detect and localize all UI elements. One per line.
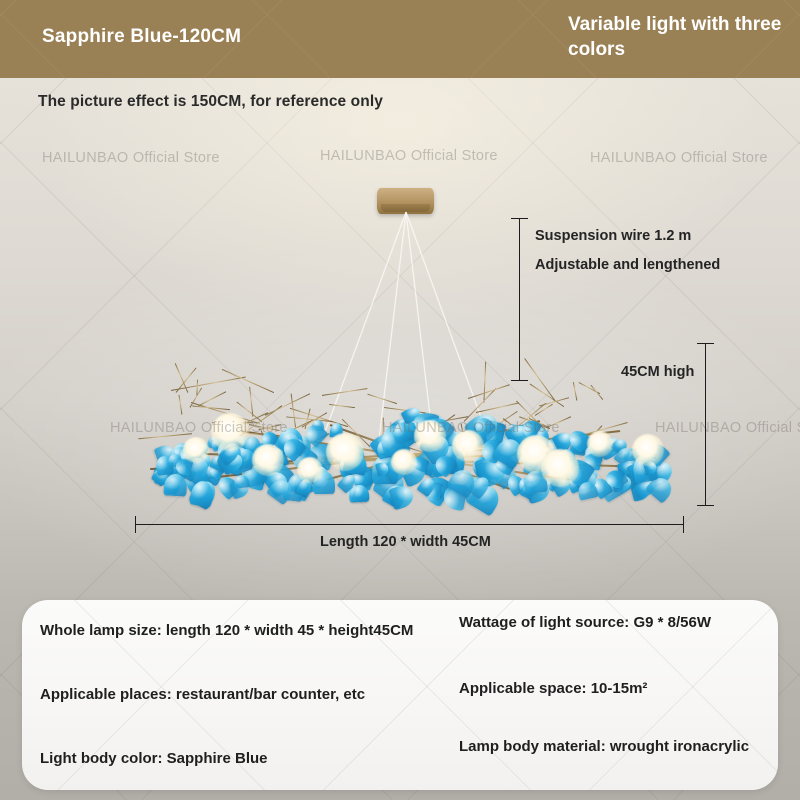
height-dimension-cap-bot: [697, 505, 714, 506]
spec-item-4: Light body color: Sapphire Blue: [40, 750, 268, 767]
suspension-dimension-cap-bot: [511, 380, 528, 381]
light-bulb-1: [252, 444, 284, 476]
length-label: Length 120 * width 45CM: [320, 534, 491, 550]
acrylic-leaf-209: [163, 474, 187, 497]
light-bulb-3: [391, 449, 417, 475]
acrylic-leaf-167: [353, 485, 368, 502]
branch-twig-51: [591, 385, 604, 400]
light-bulb-11: [541, 449, 579, 487]
branch-twig-25: [179, 395, 183, 415]
spec-item-0: Whole lamp size: length 120 * width 45 *…: [40, 622, 413, 639]
length-dimension-cap-right: [683, 516, 684, 533]
light-bulb-0: [183, 437, 209, 463]
light-bulb-7: [632, 434, 664, 466]
suspension-dimension-line: [519, 218, 520, 381]
light-bulb-9: [297, 457, 323, 483]
header-bar: Sapphire Blue-120CM Variable light with …: [0, 0, 800, 78]
branch-twig-31: [138, 433, 192, 439]
specification-panel: Whole lamp size: length 120 * width 45 *…: [22, 600, 778, 790]
light-bulb-2: [326, 433, 364, 471]
suspension-wire-label-line1: Suspension wire 1.2 m: [535, 228, 691, 244]
branch-twig-45: [222, 368, 275, 393]
light-bulb-10: [414, 420, 446, 452]
height-dimension-line: [705, 343, 706, 506]
light-bulb-8: [211, 413, 249, 451]
branch-twig-42: [199, 391, 227, 406]
branch-twig-29: [546, 416, 572, 428]
height-dimension-cap-top: [697, 343, 714, 344]
light-bulb-6: [587, 431, 613, 457]
spec-item-2: Applicable places: restaurant/bar counte…: [40, 686, 365, 703]
suspension-wire-label-line2: Adjustable and lengthened: [535, 257, 720, 273]
length-dimension-line: [135, 524, 683, 525]
light-bulb-4: [452, 430, 484, 462]
spec-item-5: Lamp body material: wrought ironacrylic: [459, 738, 749, 755]
ceiling-canopy: [377, 188, 434, 214]
header-title-left: Sapphire Blue-120CM: [42, 26, 241, 48]
header-title-right: Variable light with three colors: [568, 12, 798, 62]
branch-twig-55: [322, 388, 367, 396]
branch-twig-14: [524, 358, 556, 401]
spec-item-3: Applicable space: 10-15m²: [459, 680, 647, 697]
height-label: 45CM high: [621, 364, 694, 380]
branch-twig-37: [196, 380, 198, 396]
product-spec-image: HAILUNBAO Official StoreHAILUNBAO Offici…: [0, 0, 800, 800]
spec-item-1: Wattage of light source: G9 * 8/56W: [459, 614, 711, 631]
branch-twig-33: [476, 402, 519, 413]
length-dimension-cap-left: [135, 516, 136, 533]
suspension-dimension-cap-top: [511, 218, 528, 219]
reference-note: The picture effect is 150CM, for referen…: [38, 93, 383, 111]
branch-twig-57: [573, 382, 578, 401]
